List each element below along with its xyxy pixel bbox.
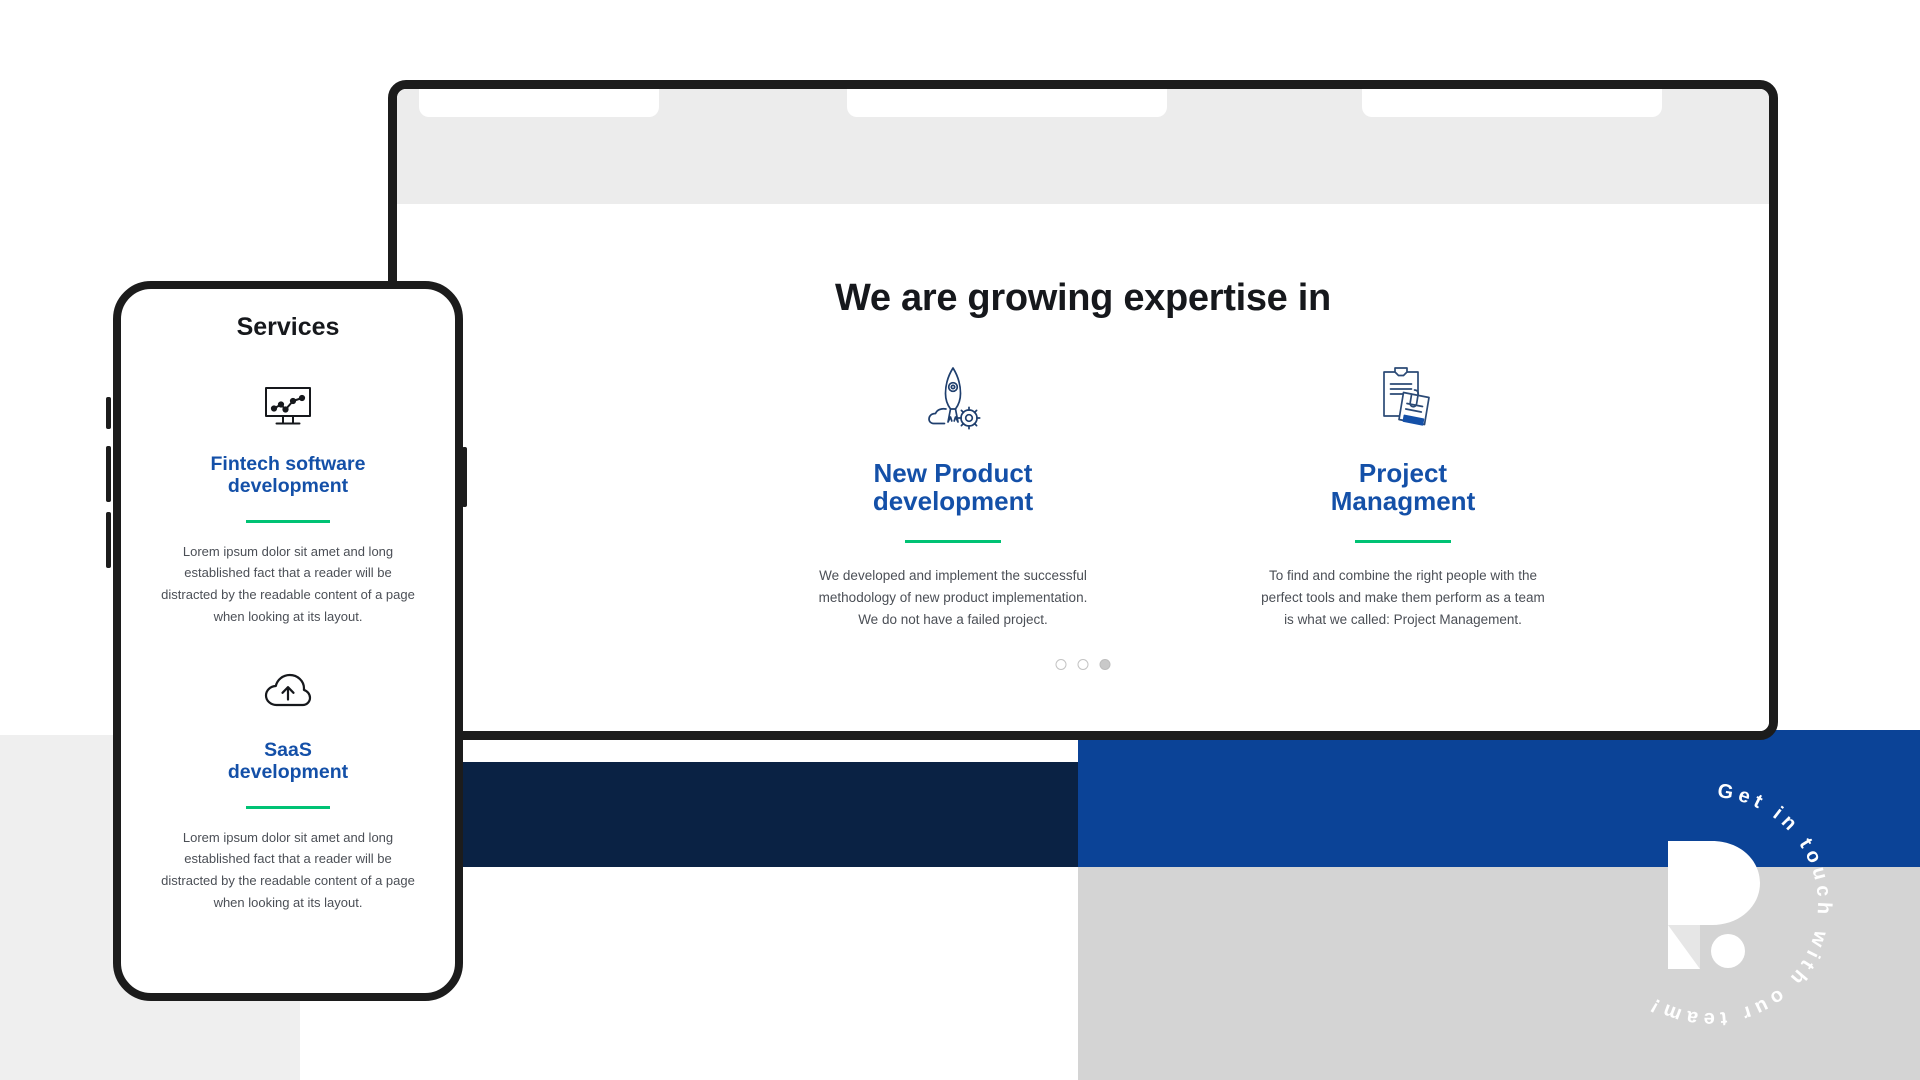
cloud-upload-icon [143,664,433,722]
service-card-title: Project Managment [1253,460,1553,515]
browser-viewport: We are growing expertise in [397,204,1769,740]
service-title-line-1: Project [1359,458,1447,488]
service-card-description: To find and combine the right people wit… [1258,565,1548,631]
service-card-new-product[interactable]: New Product development We developed and… [803,362,1103,631]
title-underline-accent [246,520,330,523]
service-title-line-1: New Product [874,458,1033,488]
phone-service-card-fintech[interactable]: Fintech software development Lorem ipsum… [143,378,433,628]
browser-tab[interactable] [1362,80,1662,117]
browser-chrome-bar [397,89,1769,204]
service-card-project-management[interactable]: Project Managment To find and combine th… [1253,362,1553,631]
screenshot-stage: We are growing expertise in [0,0,1920,1080]
phone-section-title: Services [143,313,433,342]
phone-volume-down-button[interactable] [106,512,111,568]
phone-title-line-2: development [228,761,348,783]
monitor-chart-icon [143,378,433,436]
phone-title-line-1: SaaS [264,739,312,761]
phone-power-button[interactable] [462,447,467,507]
phone-device-frame: Services Fintech softw [113,281,463,1001]
phone-screen: Services Fintech softw [121,289,455,914]
phone-service-card-saas[interactable]: SaaS development Lorem ipsum dolor sit a… [143,664,433,914]
service-title-line-2: development [873,486,1033,516]
carousel-dot-active[interactable] [1100,659,1111,670]
phone-service-card-title: Fintech software development [143,454,433,498]
title-underline-accent [1355,540,1451,543]
phone-title-line-1: Fintech software [211,453,366,475]
phone-volume-up-button[interactable] [106,446,111,502]
phone-service-card-description: Lorem ipsum dolor sit amet and long esta… [161,827,416,914]
page-title: We are growing expertise in [397,204,1769,320]
phone-service-card-title: SaaS development [143,740,433,784]
phone-title-line-2: development [228,475,348,497]
browser-tab[interactable] [419,80,659,117]
phone-service-card-description: Lorem ipsum dolor sit amet and long esta… [161,541,416,628]
title-underline-accent [246,806,330,809]
rocket-icon [803,362,1103,434]
service-title-line-2: Managment [1331,486,1475,516]
service-card-title: New Product development [803,460,1103,515]
clipboard-documents-icon [1253,362,1553,434]
laptop-device-frame: We are growing expertise in [388,80,1778,740]
carousel-dot[interactable] [1078,659,1089,670]
title-underline-accent [905,540,1001,543]
service-card-description: We developed and implement the successfu… [808,565,1098,631]
services-card-row: New Product development We developed and… [397,362,1769,631]
browser-tab[interactable] [847,80,1167,117]
phone-mute-button[interactable] [106,397,111,429]
get-in-touch-badge[interactable]: Get in touch with our team! [1560,755,1860,1055]
p-logo-mark [1668,841,1760,969]
carousel-dot[interactable] [1056,659,1067,670]
carousel-pagination-dots[interactable] [1056,659,1111,670]
